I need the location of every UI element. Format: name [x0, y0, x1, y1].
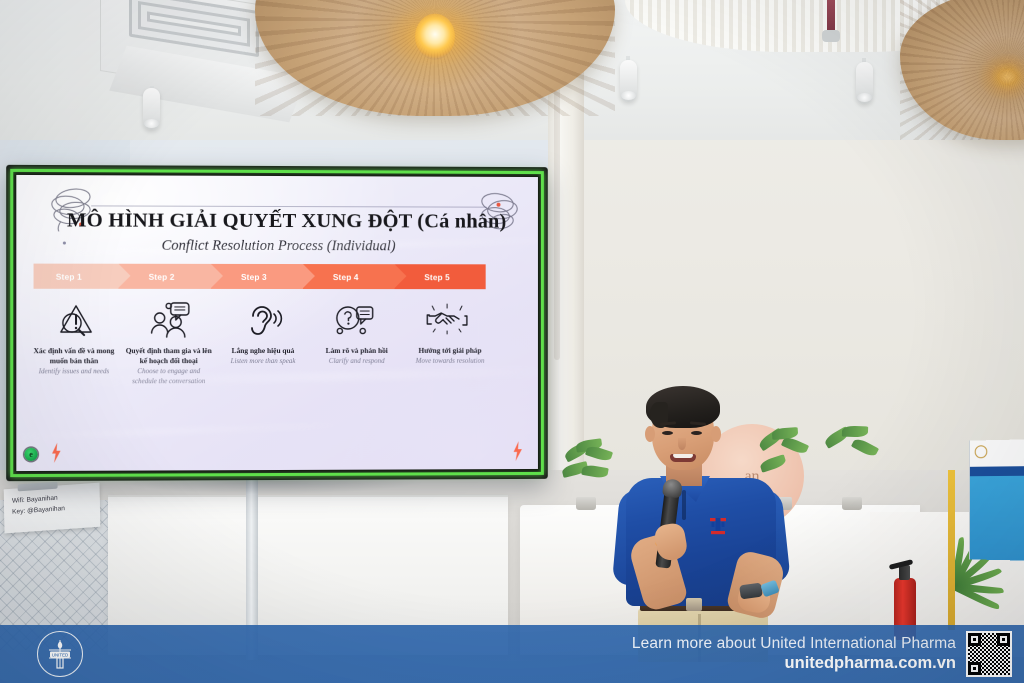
chest-logo-icon [708, 514, 728, 536]
step-caption-vi: Lắng nghe hiệu quả [219, 346, 307, 356]
tv-shadow [120, 480, 420, 494]
step-chevron-label: Step 2 [149, 271, 175, 281]
spot-light-3 [856, 62, 873, 104]
step-caption-vi: Làm rõ và phản hồi [313, 346, 401, 356]
step-chevron-label: Step 1 [56, 271, 82, 281]
shirt-placket [682, 490, 686, 520]
presenter-ear-right [711, 426, 721, 442]
step-chevron-5: Step 5 [395, 264, 486, 289]
step-caption-1: Xác định vấn đề và mong muốn bản thânIde… [26, 346, 121, 377]
title-rule [91, 205, 486, 207]
ear-listening-icon [217, 296, 309, 344]
step-icons-row [30, 296, 492, 344]
presenter-eye-left [662, 431, 673, 435]
presenter-ear-left [645, 426, 655, 442]
presentation-photo-scene: an Wifi: Bayanihan Key: @Bayanihan [0, 0, 1024, 683]
handshake-icon [401, 296, 492, 344]
banner-content: Learn more about United International Ph… [632, 631, 1024, 677]
bottom-branding-banner: UNITED Learn more about United Internati… [0, 625, 1024, 683]
step-caption-en: Move towards resolution [406, 357, 493, 367]
slide-brand-badge: e [24, 448, 37, 461]
qr-code-icon[interactable] [966, 631, 1012, 677]
question-speech-bubble-icon [309, 296, 401, 344]
belt-buckle [686, 598, 702, 611]
screen-glare-3 [16, 421, 352, 441]
step-chevron-arrow [118, 264, 130, 288]
television-display: MÔ HÌNH GIẢI QUYẾT XUNG ĐỘT (Cá nhân) Co… [6, 165, 548, 481]
slide-title: MÔ HÌNH GIẢI QUYẾT XUNG ĐỘT (Cá nhân) [16, 209, 538, 233]
step-caption-2: Quyết định tham gia và lên kế hoạch đối … [121, 346, 216, 386]
potted-plant-1 [560, 440, 620, 510]
banner-text-block: Learn more about United International Ph… [632, 635, 956, 673]
presenter-hair [646, 386, 720, 428]
step-caption-vi: Hướng tới giải pháp [406, 346, 493, 356]
step-chevron-arrow [395, 264, 407, 288]
step-caption-en: Identify issues and needs [29, 367, 118, 377]
step-chevron-label: Step 5 [424, 272, 450, 282]
lightning-bolt-icon-left [51, 443, 62, 463]
sign-clip [18, 482, 58, 492]
lightning-bolt-icon-right [512, 441, 523, 461]
step-captions-row: Xác định vấn đề và mong muốn bản thânIde… [26, 346, 496, 387]
step-chevron-4: Step 4 [303, 264, 395, 289]
tv-bezel: MÔ HÌNH GIẢI QUYẾT XUNG ĐỘT (Cá nhân) Co… [10, 169, 544, 477]
presenter-mouth [670, 454, 696, 462]
rattan-pendant-lamp-right [900, 0, 1024, 140]
step-caption-4: Làm rõ và phản hồiClarify and respond [310, 346, 404, 367]
slide-subtitle: Conflict Resolution Process (Individual) [16, 237, 538, 255]
potted-plant-3 [820, 430, 880, 510]
step-chevron-bar: Step 1Step 2Step 3Step 4Step 5 [34, 264, 486, 290]
step-chevron-label: Step 4 [333, 272, 359, 282]
step-chevron-1: Step 1 [34, 264, 119, 289]
banner-website-url[interactable]: unitedpharma.com.vn [632, 654, 956, 673]
step-caption-vi: Xác định vấn đề và mong muốn bản thân [29, 346, 118, 366]
svg-text:UNITED: UNITED [52, 652, 68, 657]
step-caption-5: Hướng tới giải phápMove towards resoluti… [403, 346, 496, 366]
step-caption-en: Listen more than speak [219, 357, 307, 367]
accent-dot-right [497, 203, 501, 207]
blue-poster-right [969, 439, 1024, 560]
rattan-pendant-lamp-large [255, 0, 615, 116]
banner-headline: Learn more about United International Ph… [632, 635, 956, 653]
presentation-slide: MÔ HÌNH GIẢI QUYẾT XUNG ĐỘT (Cá nhân) Co… [16, 175, 538, 471]
spot-light-1 [143, 88, 160, 130]
spot-light-2 [620, 60, 637, 102]
united-pharma-logo-icon: UNITED [37, 631, 83, 677]
step-chevron-arrow [211, 264, 223, 288]
presenter-person [612, 386, 802, 656]
step-caption-en: Clarify and respond [313, 357, 401, 367]
warning-magnifier-icon [30, 296, 123, 344]
presenter-nose [678, 438, 686, 450]
step-caption-en: Choose to engage and schedule the conver… [124, 367, 212, 386]
step-chevron-label: Step 3 [241, 271, 267, 281]
wifi-info-sign: Wifi: Bayanihan Key: @Bayanihan [4, 483, 101, 534]
people-speech-bubble-icon [124, 296, 217, 344]
step-caption-3: Lắng nghe hiệu quảListen more than speak [216, 346, 310, 367]
step-chevron-2: Step 2 [118, 264, 211, 289]
step-chevron-3: Step 3 [211, 264, 303, 289]
step-caption-vi: Quyết định tham gia và lên kế hoạch đối … [124, 346, 212, 366]
banner-logo-area: UNITED [0, 625, 120, 683]
yellow-post [948, 470, 955, 630]
step-chevron-arrow [303, 264, 315, 288]
ceiling-sprinkler [827, 0, 835, 36]
presenter-eye-right [691, 431, 702, 435]
